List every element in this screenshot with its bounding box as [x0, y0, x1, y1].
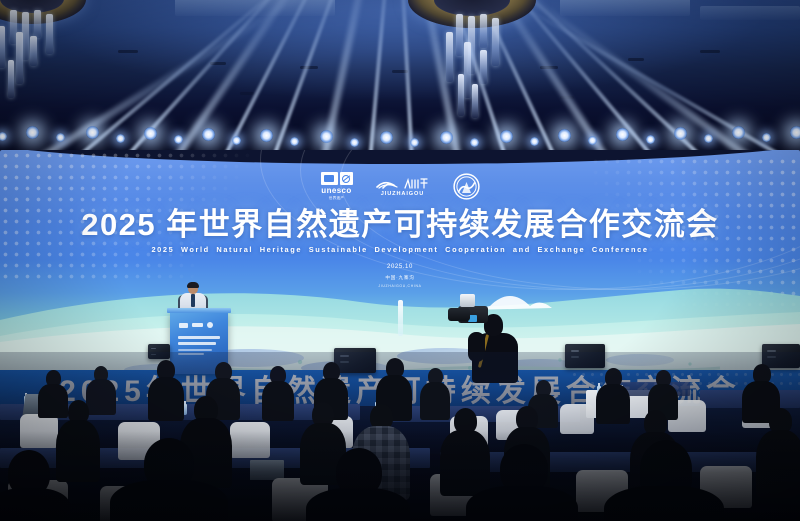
wall-lamp: [320, 130, 333, 143]
chandelier-rod: [0, 26, 5, 68]
unesco-logo: unesco 世界遗产: [321, 172, 353, 201]
attendee: [148, 360, 184, 418]
attendee-body: [262, 381, 294, 421]
attendee: [596, 368, 630, 420]
conference-photo-scene: unesco 世界遗产 JIUZHAIGOU: [0, 0, 800, 521]
wall-lamp: [202, 128, 215, 141]
chandelier-rod: [480, 50, 487, 84]
podium-subtitle-line: [178, 349, 212, 351]
speaker-tie: [191, 294, 195, 307]
wall-lamp: [260, 129, 273, 142]
chair: [560, 404, 594, 434]
wall-lamp: [86, 126, 99, 139]
wall-lamp: [704, 134, 713, 143]
wall-lamp: [470, 138, 479, 147]
jiuzhaigou-logo: JIUZHAIGOU: [375, 177, 431, 197]
chandelier-rod: [30, 36, 37, 66]
wall-lamp: [674, 127, 687, 140]
wall-lamp: [558, 129, 571, 142]
heritage-emblem-logo: [453, 173, 480, 200]
ceiling: [0, 0, 800, 152]
unesco-mark-icon: [321, 172, 353, 185]
unesco-logo-sub: 世界遗产: [329, 196, 345, 201]
conference-date: 2025.10: [0, 264, 800, 271]
podium-title-line: [178, 336, 220, 339]
chandelier-rod: [46, 14, 53, 54]
conference-title-en: 2025 World Natural Heritage Sustainable …: [0, 245, 800, 254]
wall-lamp: [410, 138, 419, 147]
wall-lamp: [616, 128, 629, 141]
wall-lamp: [732, 126, 745, 139]
wall-lamp: [174, 135, 183, 144]
chandelier-rod: [480, 14, 487, 48]
speaker-hair: [187, 282, 199, 288]
wall-lamp: [26, 126, 39, 139]
attendee: [262, 366, 294, 418]
chandelier-rod: [464, 42, 471, 98]
wall-lamp: [790, 126, 800, 139]
wall-lamp: [290, 137, 299, 146]
attendee-body: [148, 377, 184, 421]
chandelier-rod: [8, 60, 14, 98]
wall-lamp: [762, 133, 771, 142]
wall-lamp: [144, 127, 157, 140]
wall-lamp: [56, 133, 65, 142]
wall-lamp: [646, 135, 655, 144]
camera-flash: [460, 294, 475, 307]
jiuzhaigou-logo-word: JIUZHAIGOU: [381, 191, 425, 197]
wall-lamp: [350, 138, 359, 147]
wall-lamp: [588, 136, 597, 145]
wall-lamp: [116, 134, 125, 143]
chandelier-rod: [472, 84, 478, 118]
chandelier-rod: [16, 32, 23, 84]
chandelier-rod: [22, 12, 29, 60]
chandelier-rod: [492, 18, 499, 66]
conference-title-cn: 2025 年世界自然遗产可持续发展合作交流会: [0, 208, 800, 242]
wall-light-row: [0, 116, 800, 150]
camera-lens: [448, 308, 470, 321]
podium-top: [167, 308, 231, 313]
chandelier-rod: [34, 10, 41, 38]
attendee-body: [596, 384, 630, 424]
wall-lamp: [0, 132, 7, 141]
wall-lamp: [232, 136, 241, 145]
wall-lamp: [380, 131, 393, 144]
chandelier-left: [0, 0, 88, 124]
wall-lamp: [440, 131, 453, 144]
unesco-logo-word: unesco: [321, 186, 351, 195]
jiuzhaigou-mark-icon: [375, 177, 431, 190]
wall-lamp: [500, 130, 513, 143]
podium-logo-row: [179, 322, 213, 328]
chandelier-rod: [446, 32, 453, 82]
chandelier-rod: [458, 74, 464, 116]
podium-title-line: [178, 342, 216, 345]
logo-row: unesco 世界遗产 JIUZHAIGOU: [0, 172, 800, 201]
audience-area: [0, 352, 800, 521]
chandelier-rod: [456, 14, 463, 56]
landscape-tower: [398, 300, 403, 336]
wall-lamp: [530, 137, 539, 146]
foreground-shadow: [0, 431, 800, 521]
